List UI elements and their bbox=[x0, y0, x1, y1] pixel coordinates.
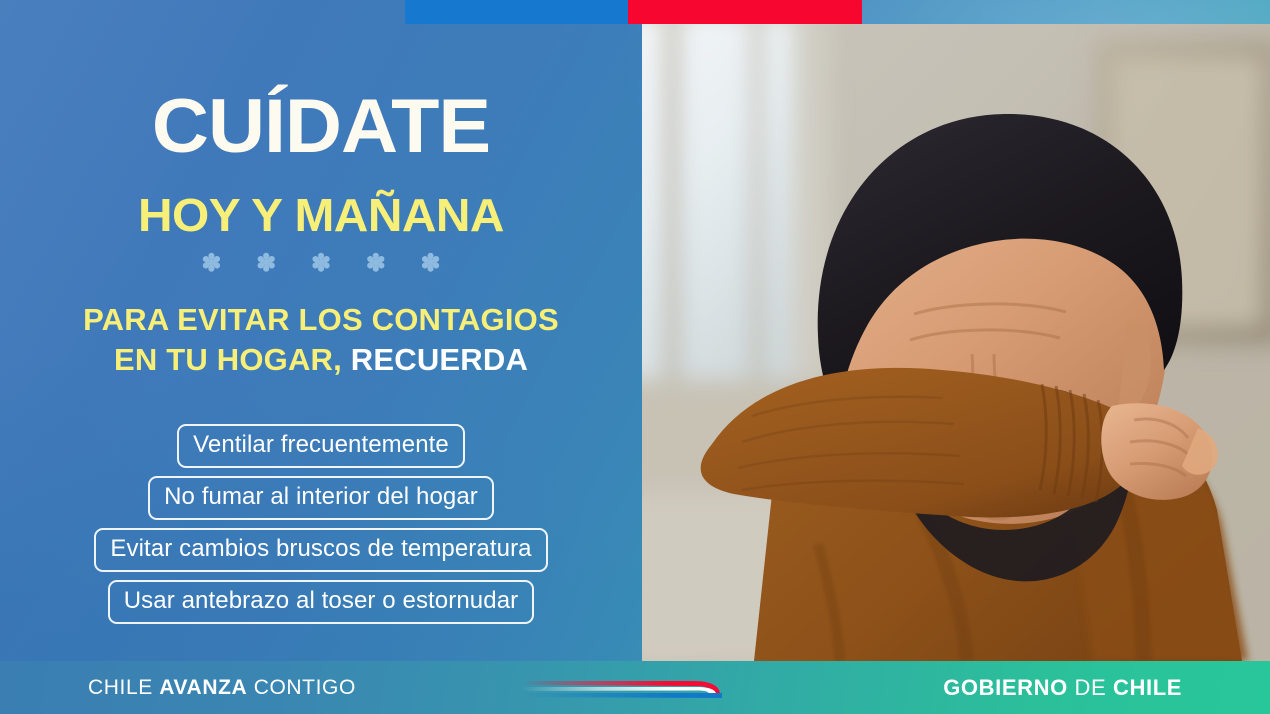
recommendation-list: Ventilar frecuentemente No fumar al inte… bbox=[0, 424, 642, 624]
lead-text: PARA EVITAR LOS CONTAGIOS EN TU HOGAR, R… bbox=[0, 300, 642, 379]
photo-man-coughing-into-elbow bbox=[642, 24, 1270, 661]
footer-brand-word-2: DE bbox=[1075, 675, 1107, 700]
list-item: No fumar al interior del hogar bbox=[148, 476, 494, 520]
list-item: Usar antebrazo al toser o estornudar bbox=[108, 580, 534, 624]
list-item: Evitar cambios bruscos de temperatura bbox=[94, 528, 547, 572]
list-item: Ventilar frecuentemente bbox=[177, 424, 465, 468]
gobierno-de-chile-swoosh-logo bbox=[516, 671, 740, 705]
footer-brand: GOBIERNO DE CHILE bbox=[943, 675, 1182, 701]
poster-content: CUÍDATE HOY Y MAÑANA ✽ ✽ ✽ ✽ ✽ PARA EVIT… bbox=[0, 0, 642, 661]
lead-line-2: EN TU HOGAR, RECUERDA bbox=[0, 340, 642, 380]
lead-line-1: PARA EVITAR LOS CONTAGIOS bbox=[0, 300, 642, 340]
footer-brand-word-3: CHILE bbox=[1113, 675, 1182, 700]
footer-band: CHILE AVANZA CONTIGO bbox=[0, 661, 1270, 714]
lead-line-2-accent: EN TU HOGAR, bbox=[114, 342, 342, 377]
footer-slogan-word-2: AVANZA bbox=[159, 676, 247, 699]
footer-slogan-word-3: CONTIGO bbox=[254, 676, 356, 699]
page-subtitle: HOY Y MAÑANA bbox=[0, 192, 655, 238]
top-bar-red bbox=[628, 0, 862, 24]
footer-brand-word-1: GOBIERNO bbox=[943, 675, 1068, 700]
page-title: CUÍDATE bbox=[0, 92, 655, 162]
lead-line-2-highlight: RECUERDA bbox=[351, 342, 528, 377]
footer-slogan-word-1: CHILE bbox=[88, 676, 153, 699]
poster-canvas: CUÍDATE HOY Y MAÑANA ✽ ✽ ✽ ✽ ✽ PARA EVIT… bbox=[0, 0, 1270, 714]
asterisk-divider: ✽ ✽ ✽ ✽ ✽ bbox=[0, 252, 642, 276]
footer-slogan: CHILE AVANZA CONTIGO bbox=[88, 676, 356, 700]
